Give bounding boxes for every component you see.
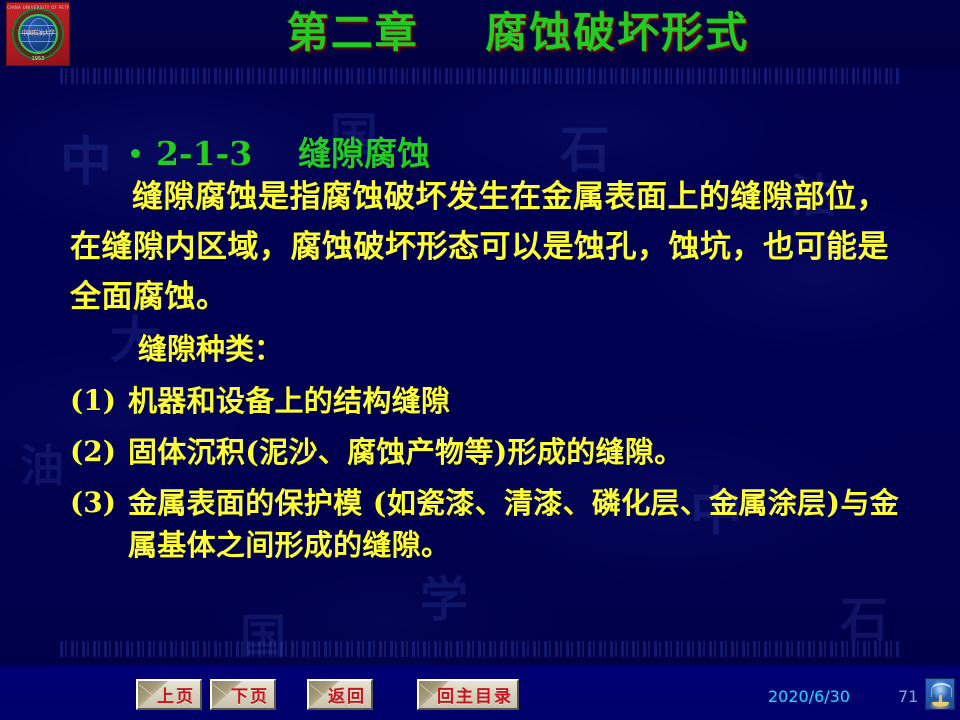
list-item-marker: (1) <box>70 380 128 422</box>
page-title: 第二章 腐蚀破坏形式 <box>80 4 956 62</box>
back-button[interactable]: 返回 <box>307 679 373 710</box>
logo-globe-icon: 中国石油大学 <box>18 14 58 54</box>
logo-year: 1953 <box>7 56 69 62</box>
sub-heading: 缝隙种类： <box>138 330 283 368</box>
list-item-marker: (2) <box>70 431 128 473</box>
body-paragraph: 缝隙腐蚀是指腐蚀破坏发生在金属表面上的缝隙部位，在缝隙内区域，腐蚀破坏形态可以是… <box>70 172 890 322</box>
main-menu-label: 回主目录 <box>419 681 517 708</box>
slide-content: 2-1-3 缝隙腐蚀 缝隙腐蚀是指腐蚀破坏发生在金属表面上的缝隙部位，在缝隙内区… <box>0 72 960 642</box>
logo-arc-text: CHINA UNIVERSITY OF PETROLEUM <box>7 5 69 10</box>
prev-page-label: 上页 <box>138 681 200 708</box>
date-text: 2020/6/30 <box>768 687 850 707</box>
prev-page-button[interactable]: 上页 <box>136 679 202 710</box>
page-number: 71 <box>898 687 918 707</box>
section-heading-label: 2-1-3 缝隙腐蚀 <box>156 134 430 173</box>
crevice-type-list: (1) 机器和设备上的结构缝隙 (2) 固体沉积(泥沙、腐蚀产物等)形成的缝隙。… <box>70 380 910 575</box>
university-logo: 中国石油大学 CHINA UNIVERSITY OF PETROLEUM 195… <box>6 2 70 66</box>
logo-center-text: 中国石油大学 <box>20 30 56 37</box>
slide-canvas: 中 国 石 油 大 学 中 国 石 油 中国石油大学 CHINA UNIVERS… <box>0 0 960 720</box>
next-page-button[interactable]: 下页 <box>210 679 276 710</box>
list-item-text: 金属表面的保护模 (如瓷漆、清漆、磷化层、金属涂层)与金属基体之间形成的缝隙。 <box>128 482 910 566</box>
main-menu-button[interactable]: 回主目录 <box>417 679 519 710</box>
watermark-band-bottom <box>60 641 900 657</box>
list-item-text: 固体沉积(泥沙、腐蚀产物等)形成的缝隙。 <box>128 431 910 473</box>
list-item-text: 机器和设备上的结构缝隙 <box>128 380 910 422</box>
list-item-marker: (3) <box>70 482 128 524</box>
next-page-label: 下页 <box>212 681 274 708</box>
list-item: (1) 机器和设备上的结构缝隙 <box>70 380 910 422</box>
fountain-icon[interactable] <box>925 678 955 710</box>
bullet-dot-icon <box>131 149 140 158</box>
back-label: 返回 <box>309 681 371 708</box>
list-item: (3) 金属表面的保护模 (如瓷漆、清漆、磷化层、金属涂层)与金属基体之间形成的… <box>70 482 910 566</box>
list-item: (2) 固体沉积(泥沙、腐蚀产物等)形成的缝隙。 <box>70 431 910 473</box>
